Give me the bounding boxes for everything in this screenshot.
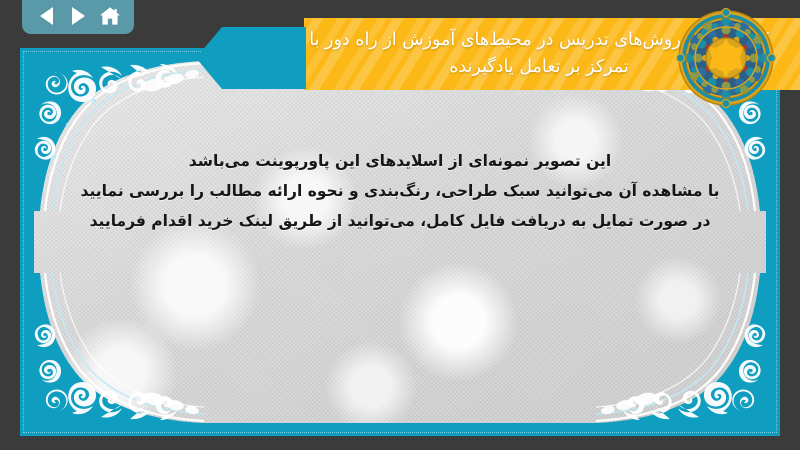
forward-arrow-icon <box>72 7 85 25</box>
home-button[interactable] <box>97 4 123 28</box>
islamic-rosette-medallion <box>676 8 776 108</box>
body-line-1: این تصویر نمونه‌ای از اسلایدهای این پاور… <box>62 149 738 174</box>
slide-content-frame: این تصویر نمونه‌ای از اسلایدهای این پاور… <box>20 48 780 436</box>
banner-teal-tail <box>196 27 306 89</box>
slide-body-text: این تصویر نمونه‌ای از اسلایدهای این پاور… <box>34 149 766 239</box>
arabesque-corner-ornament-bottom-left <box>34 273 204 423</box>
body-line-3: در صورت تمایل به دریافت فایل کامل، می‌تو… <box>62 209 738 234</box>
body-line-2: با مشاهده آن می‌توانید سبک طراحی، رنگ‌بن… <box>62 179 738 204</box>
navigation-bar[interactable] <box>22 0 134 34</box>
slide-content-panel: این تصویر نمونه‌ای از اسلایدهای این پاور… <box>34 61 766 423</box>
slide-stage: این تصویر نمونه‌ای از اسلایدهای این پاور… <box>0 0 800 450</box>
forward-button[interactable] <box>65 4 91 28</box>
arabesque-corner-ornament-bottom-right <box>596 273 766 423</box>
back-button[interactable] <box>33 4 59 28</box>
back-arrow-icon <box>40 7 53 25</box>
home-icon <box>99 6 121 26</box>
